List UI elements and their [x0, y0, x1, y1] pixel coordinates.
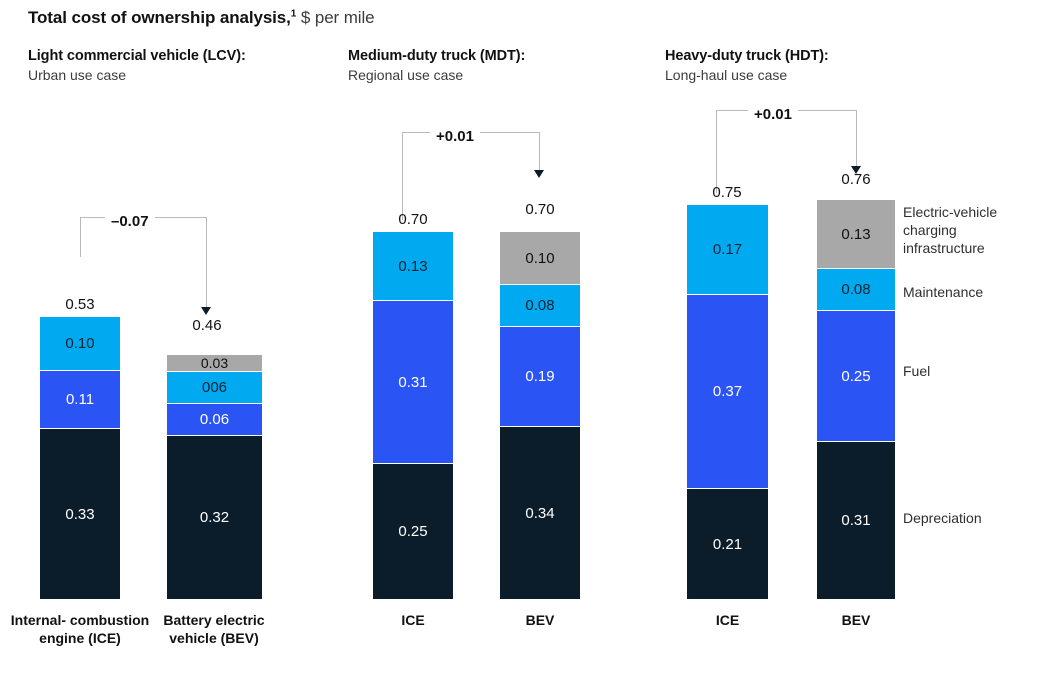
bracket-right-stem — [856, 110, 857, 166]
bar-hdt-ice[interactable]: 0.17 0.37 0.21 — [687, 205, 768, 599]
segment-value: 0.08 — [841, 282, 870, 297]
segment-charging[interactable]: 0.13 — [817, 200, 895, 268]
delta-label-mdt: +0.01 — [430, 128, 480, 145]
segment-value: 0.31 — [841, 513, 870, 528]
bar-hdt-bev[interactable]: 0.13 0.08 0.25 0.31 — [817, 200, 895, 599]
segment-maintenance[interactable]: 0.08 — [500, 284, 580, 326]
bar-category-lcv-bev: Battery electric vehicle (BEV) — [144, 612, 284, 647]
tco-chart-figure: Total cost of ownership analysis,1 $ per… — [0, 0, 1044, 683]
segment-charging[interactable]: 0.03 — [167, 355, 262, 371]
segment-maintenance[interactable]: 0.08 — [817, 268, 895, 310]
legend-item-fuel[interactable]: Fuel — [903, 363, 1043, 381]
segment-depreciation[interactable]: 0.33 — [40, 428, 120, 599]
bar-total-lcv-ice: 0.53 — [40, 296, 120, 313]
segment-value: 0.10 — [525, 251, 554, 266]
segment-value: 0.19 — [525, 369, 554, 384]
segment-maintenance[interactable]: 0.17 — [687, 205, 768, 294]
bar-lcv-ice[interactable]: 0.10 0.11 0.33 — [40, 317, 120, 599]
segment-maintenance[interactable]: 0.13 — [373, 232, 453, 300]
bar-category-hdt-ice: ICE — [687, 612, 768, 630]
segment-value: 0.21 — [713, 537, 742, 552]
bracket-arrow-icon — [201, 307, 211, 315]
segment-charging[interactable]: 0.10 — [500, 232, 580, 284]
segment-value: 0.34 — [525, 506, 554, 521]
segment-depreciation[interactable]: 0.34 — [500, 426, 580, 599]
segment-depreciation[interactable]: 0.25 — [373, 463, 453, 599]
legend-item-maintenance[interactable]: Maintenance — [903, 284, 1043, 302]
bar-category-mdt-ice: ICE — [373, 612, 453, 630]
segment-value: 0.13 — [398, 259, 427, 274]
bracket-right-stem — [206, 217, 207, 307]
segment-value: 0.13 — [841, 227, 870, 242]
segment-value: 0.08 — [525, 298, 554, 313]
segment-fuel[interactable]: 0.37 — [687, 294, 768, 488]
segment-value: 0.03 — [201, 356, 228, 370]
segment-value: 0.33 — [65, 507, 94, 522]
segment-value: 0.11 — [66, 392, 94, 407]
bracket-left-stem — [716, 110, 717, 193]
segment-value: 0.37 — [713, 384, 742, 399]
bar-category-hdt-bev: BEV — [817, 612, 895, 630]
legend-item-depreciation[interactable]: Depreciation — [903, 510, 1043, 528]
legend-item-charging[interactable]: Electric-vehicle charging infrastructure — [903, 204, 1043, 258]
bar-total-mdt-ice: 0.70 — [373, 211, 453, 228]
bar-lcv-bev[interactable]: 0.03 006 0.06 0.32 — [167, 355, 262, 599]
bracket-right-stem — [539, 132, 540, 170]
segment-fuel[interactable]: 0.31 — [373, 300, 453, 463]
bracket-left-stem — [402, 132, 403, 220]
delta-label-lcv: –0.07 — [105, 213, 155, 230]
segment-depreciation[interactable]: 0.31 — [817, 441, 895, 599]
segment-depreciation[interactable]: 0.21 — [687, 488, 768, 599]
segment-maintenance[interactable]: 0.10 — [40, 317, 120, 370]
bracket-arrow-icon — [534, 170, 544, 178]
segment-value: 0.31 — [398, 375, 427, 390]
bar-mdt-bev[interactable]: 0.10 0.08 0.19 0.34 — [500, 232, 580, 599]
bracket-left-stem — [80, 217, 81, 257]
segment-value: 0.25 — [841, 369, 870, 384]
bar-mdt-ice[interactable]: 0.13 0.31 0.25 — [373, 232, 453, 599]
segment-fuel[interactable]: 0.06 — [167, 403, 262, 435]
segment-value: 0.25 — [398, 524, 427, 539]
segment-value: 0.17 — [713, 242, 742, 257]
bar-category-lcv-ice: Internal- combustion engine (ICE) — [10, 612, 150, 647]
bar-total-lcv-bev: 0.46 — [167, 317, 247, 334]
bar-total-mdt-bev: 0.70 — [500, 201, 580, 218]
segment-value: 0.32 — [200, 510, 229, 525]
segment-value: 0.06 — [200, 412, 229, 427]
segment-maintenance[interactable]: 006 — [167, 371, 262, 403]
segment-value: 0.10 — [65, 336, 94, 351]
segment-fuel[interactable]: 0.11 — [40, 370, 120, 428]
bar-total-hdt-bev: 0.76 — [817, 171, 895, 188]
segment-value: 006 — [202, 380, 227, 395]
plot-area: –0.07 0.53 0.10 0.11 0.33 Internal- comb… — [0, 0, 1044, 683]
segment-depreciation[interactable]: 0.32 — [167, 435, 262, 599]
bar-total-hdt-ice: 0.75 — [687, 184, 767, 201]
bar-category-mdt-bev: BEV — [500, 612, 580, 630]
segment-fuel[interactable]: 0.25 — [817, 310, 895, 441]
delta-label-hdt: +0.01 — [748, 106, 798, 123]
segment-fuel[interactable]: 0.19 — [500, 326, 580, 426]
